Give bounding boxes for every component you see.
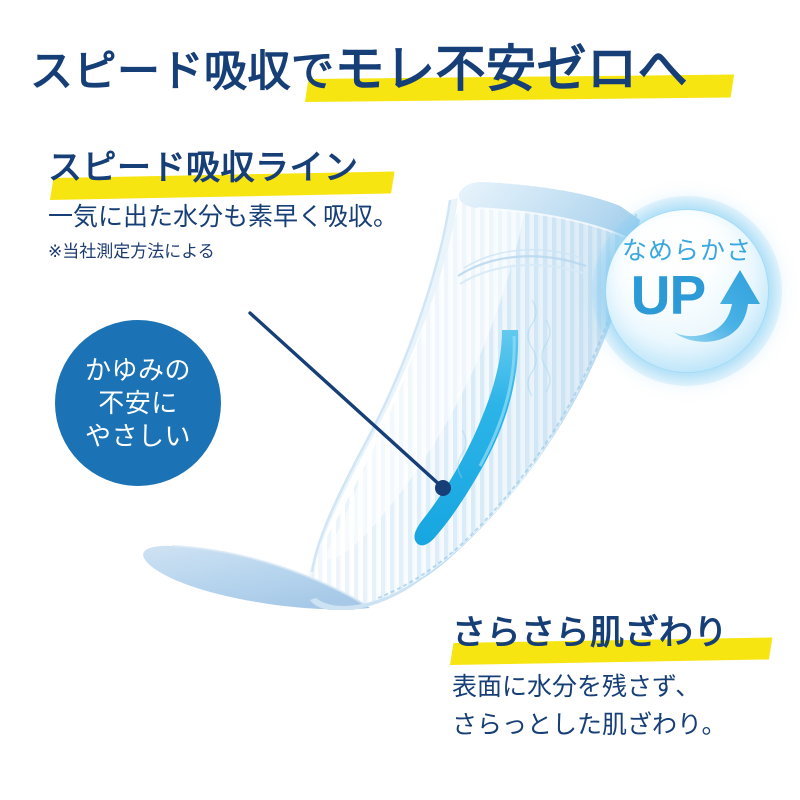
badge-smoothness-up: なめらかさ UP <box>592 196 782 386</box>
speed-heading: スピード吸収ライン <box>48 146 398 190</box>
headline-text: スピード吸収でモレ不安ゼロへ <box>30 36 688 105</box>
section-speed-absorb: スピード吸収ライン 一気に出た水分も素早く吸収。 ※当社測定方法による <box>48 146 398 264</box>
page-headline: スピード吸収でモレ不安ゼロへ <box>30 36 775 106</box>
curved-up-arrow-icon <box>670 258 766 344</box>
badge-itch-relief: かゆみの 不安に やさしい <box>55 320 221 486</box>
dry-body-line-1: 表面に水分を残さず、 <box>452 668 728 706</box>
headline-segment-a: スピード吸収で <box>30 48 335 96</box>
headline-segment-b: モレ不安ゼロへ <box>335 41 689 97</box>
dry-heading: さらさら肌ざわり <box>452 610 728 656</box>
badge-itch-line-1: かゆみの <box>85 354 191 387</box>
dry-body-line-2: さらっとした肌ざわり。 <box>452 706 728 744</box>
infographic-canvas: スピード吸収でモレ不安ゼロへ <box>0 0 800 800</box>
section-dry-touch: さらさら肌ざわり 表面に水分を残さず、 さらっとした肌ざわり。 <box>452 610 728 744</box>
speed-body-text: 一気に出た水分も素早く吸収。 <box>48 200 398 234</box>
badge-itch-line-2: 不安に <box>98 387 178 420</box>
speed-note-text: ※当社測定方法による <box>48 240 398 264</box>
badge-itch-line-3: やさしい <box>85 420 191 453</box>
